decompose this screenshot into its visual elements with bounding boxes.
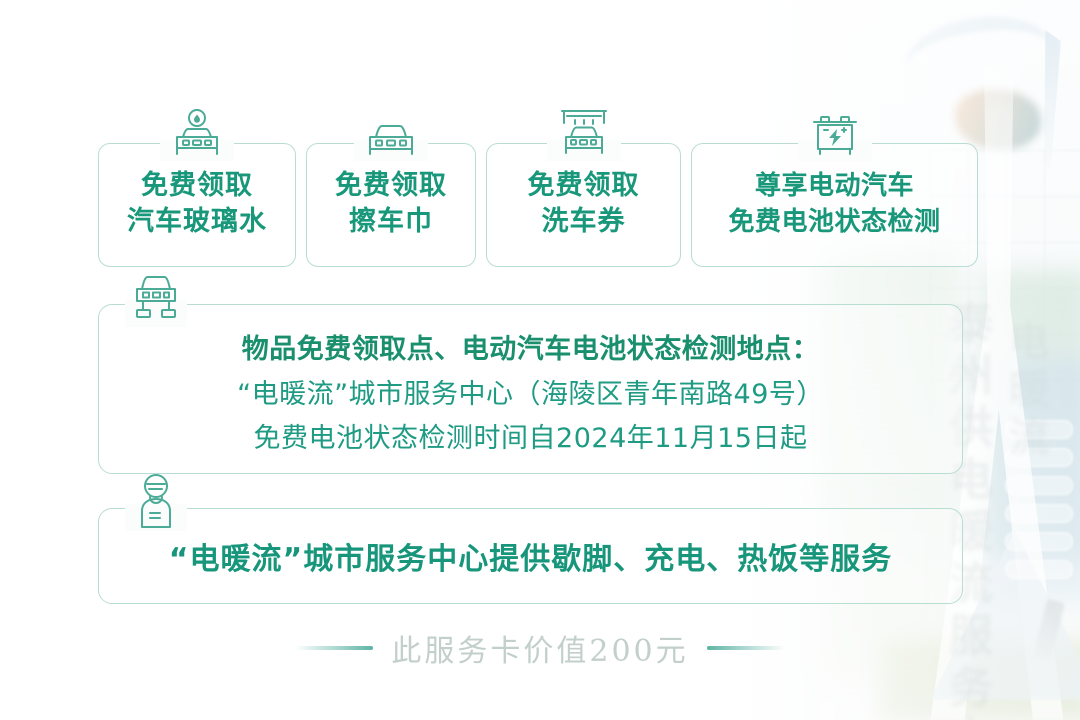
poster-content: 免费领取 汽车玻璃水 免费领取 擦车巾	[0, 0, 1080, 720]
perk-card-washer-fluid[interactable]: 免费领取 汽车玻璃水	[98, 143, 296, 267]
car-on-lift-icon	[125, 265, 187, 327]
perk-title-line2: 汽车玻璃水	[99, 204, 295, 240]
car-washer-fluid-icon	[160, 105, 234, 161]
perk-title-line2: 洗车券	[487, 204, 680, 240]
service-info-box: “电暖流”城市服务中心提供歇脚、充电、热饭等服务	[98, 508, 963, 604]
car-battery-icon	[798, 105, 872, 161]
perk-title-line1: 免费领取	[487, 168, 680, 204]
perk-title-line1: 免费领取	[99, 168, 295, 204]
footer-rule-left	[295, 646, 373, 650]
service-card-poster: 泰州供电暖流服务中心 电暖流	[0, 0, 1080, 720]
service-text: “电暖流”城市服务中心提供歇脚、充电、热饭等服务	[169, 534, 892, 578]
perk-title-line1: 免费领取	[307, 168, 475, 204]
perk-title-line2: 免费电池状态检测	[692, 204, 977, 240]
perk-card-battery-check[interactable]: 尊享电动汽车 免费电池状态检测	[691, 143, 978, 267]
perk-card-wipe-cloth[interactable]: 免费领取 擦车巾	[306, 143, 476, 267]
perk-card-car-wash-coupon[interactable]: 免费领取 洗车券	[486, 143, 681, 267]
footer-rule-right	[707, 646, 785, 650]
location-info-box: 物品免费领取点、电动汽车电池状态检测地点： “电暖流”城市服务中心（海陵区青年南…	[98, 304, 963, 474]
perk-title-line2: 擦车巾	[307, 204, 475, 240]
perk-title-line1: 尊享电动汽车	[692, 168, 977, 204]
location-address: “电暖流”城市服务中心（海陵区青年南路49号）	[99, 373, 962, 417]
car-icon	[354, 105, 428, 161]
service-worker-icon	[125, 469, 187, 531]
footer-note-text: 此服务卡价值200元	[391, 626, 688, 670]
perk-card-row: 免费领取 汽车玻璃水 免费领取 擦车巾	[98, 143, 978, 267]
footer-value-note: 此服务卡价值200元	[0, 626, 1080, 670]
location-schedule: 免费电池状态检测时间自2024年11月15日起	[99, 417, 962, 461]
car-wash-icon	[547, 105, 621, 161]
location-heading: 物品免费领取点、电动汽车电池状态检测地点：	[99, 327, 962, 373]
